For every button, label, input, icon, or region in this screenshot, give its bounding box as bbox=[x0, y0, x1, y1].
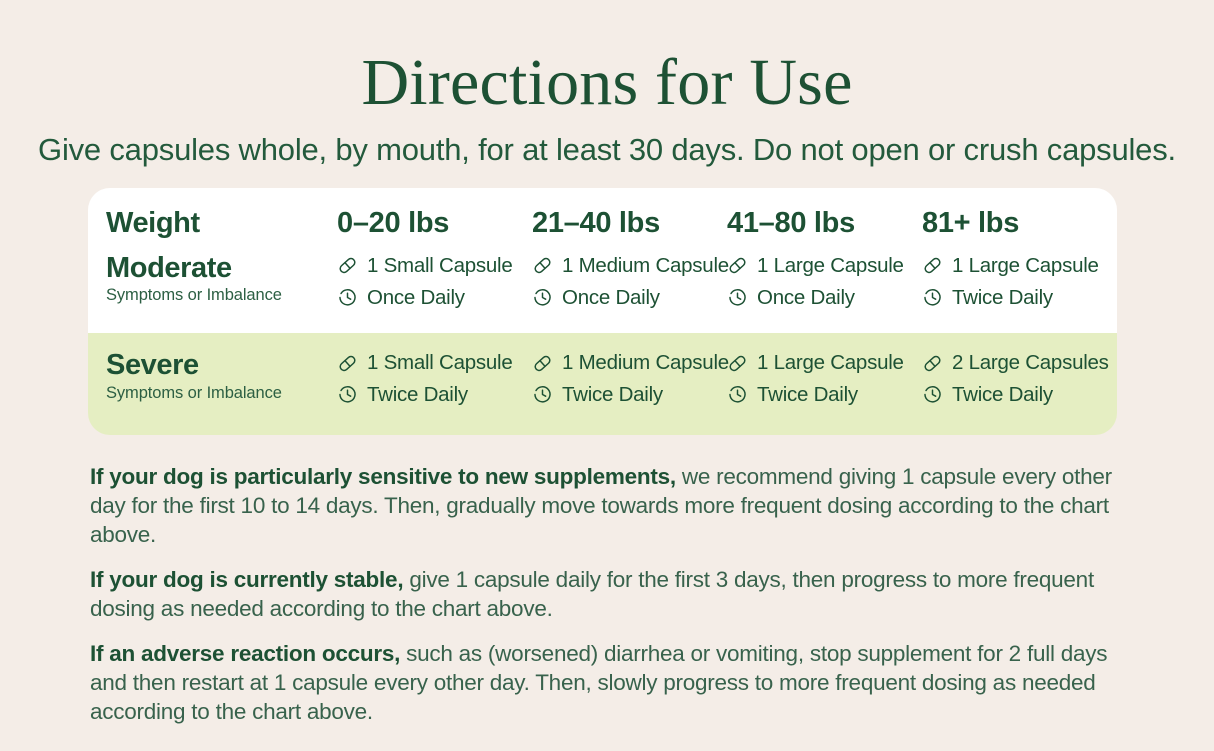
severity-subtitle: Symptoms or Imbalance bbox=[106, 286, 337, 305]
frequency-label: Once Daily bbox=[562, 284, 660, 312]
capsule-dose-label: 1 Large Capsule bbox=[952, 252, 1099, 280]
capsule-icon bbox=[337, 255, 358, 276]
frequency-label: Twice Daily bbox=[757, 381, 858, 409]
capsule-dose: 1 Small Capsule bbox=[337, 252, 532, 280]
page-subtitle: Give capsules whole, by mouth, for at le… bbox=[0, 131, 1214, 168]
capsule-dose-label: 1 Large Capsule bbox=[757, 252, 904, 280]
capsule-dose: 1 Large Capsule bbox=[922, 252, 1122, 280]
capsule-dose: 1 Large Capsule bbox=[727, 349, 922, 377]
usage-notes: If your dog is particularly sensitive to… bbox=[90, 462, 1125, 726]
frequency-label: Twice Daily bbox=[562, 381, 663, 409]
frequency-label: Twice Daily bbox=[367, 381, 468, 409]
clock-icon bbox=[337, 384, 358, 405]
capsule-dose: 1 Large Capsule bbox=[727, 252, 922, 280]
column-header-21-40: 21–40 lbs bbox=[532, 208, 727, 240]
directions-for-use-page: Directions for Use Give capsules whole, … bbox=[0, 0, 1214, 751]
note-stable: If your dog is currently stable, give 1 … bbox=[90, 565, 1125, 623]
note-lead: If your dog is currently stable, bbox=[90, 567, 403, 592]
frequency-dose: Twice Daily bbox=[922, 381, 1122, 409]
capsule-dose-label: 1 Small Capsule bbox=[367, 349, 513, 377]
capsule-icon bbox=[727, 255, 748, 276]
capsule-icon bbox=[727, 353, 748, 374]
clock-icon bbox=[922, 287, 943, 308]
column-header-0-20: 0–20 lbs bbox=[337, 208, 532, 240]
table-row-severe: Severe Symptoms or Imbalance 1 Small Cap… bbox=[88, 333, 1117, 434]
capsule-dose: 2 Large Capsules bbox=[922, 349, 1122, 377]
dose-cell-severe-21-40: 1 Medium Capsule Twice Daily bbox=[532, 349, 727, 408]
frequency-label: Once Daily bbox=[757, 284, 855, 312]
clock-icon bbox=[727, 384, 748, 405]
frequency-label: Twice Daily bbox=[952, 381, 1053, 409]
capsule-dose-label: 2 Large Capsules bbox=[952, 349, 1109, 377]
dosage-chart: Weight 0–20 lbs 21–40 lbs 41–80 lbs 81+ … bbox=[88, 188, 1117, 435]
page-title: Directions for Use bbox=[0, 0, 1214, 117]
capsule-dose-label: 1 Medium Capsule bbox=[562, 252, 729, 280]
capsule-icon bbox=[922, 255, 943, 276]
note-sensitive: If your dog is particularly sensitive to… bbox=[90, 462, 1125, 549]
frequency-dose: Twice Daily bbox=[337, 381, 532, 409]
capsule-dose-label: 1 Large Capsule bbox=[757, 349, 904, 377]
table-row-moderate: Moderate Symptoms or Imbalance 1 Small C… bbox=[88, 248, 1117, 333]
capsule-dose-label: 1 Medium Capsule bbox=[562, 349, 729, 377]
dose-cell-severe-81-plus: 2 Large Capsules Twice Daily bbox=[922, 349, 1122, 408]
dose-cell-severe-0-20: 1 Small Capsule Twice Daily bbox=[337, 349, 532, 408]
frequency-label: Twice Daily bbox=[952, 284, 1053, 312]
clock-icon bbox=[532, 384, 553, 405]
frequency-label: Once Daily bbox=[367, 284, 465, 312]
capsule-dose: 1 Small Capsule bbox=[337, 349, 532, 377]
frequency-dose: Once Daily bbox=[337, 284, 532, 312]
dose-cell-moderate-41-80: 1 Large Capsule Once Daily bbox=[727, 252, 922, 311]
table-header-row: Weight 0–20 lbs 21–40 lbs 41–80 lbs 81+ … bbox=[88, 188, 1117, 248]
frequency-dose: Twice Daily bbox=[532, 381, 727, 409]
clock-icon bbox=[922, 384, 943, 405]
capsule-dose: 1 Medium Capsule bbox=[532, 349, 727, 377]
capsule-icon bbox=[532, 255, 553, 276]
note-adverse-reaction: If an adverse reaction occurs, such as (… bbox=[90, 639, 1125, 726]
column-header-41-80: 41–80 lbs bbox=[727, 208, 922, 240]
capsule-icon bbox=[532, 353, 553, 374]
severity-cell-severe: Severe Symptoms or Imbalance bbox=[88, 349, 337, 403]
clock-icon bbox=[337, 287, 358, 308]
dose-cell-severe-41-80: 1 Large Capsule Twice Daily bbox=[727, 349, 922, 408]
capsule-icon bbox=[922, 353, 943, 374]
column-header-81-plus: 81+ lbs bbox=[922, 208, 1122, 240]
capsule-dose-label: 1 Small Capsule bbox=[367, 252, 513, 280]
note-lead: If your dog is particularly sensitive to… bbox=[90, 464, 676, 489]
clock-icon bbox=[532, 287, 553, 308]
capsule-icon bbox=[337, 353, 358, 374]
dosage-chart-top: Weight 0–20 lbs 21–40 lbs 41–80 lbs 81+ … bbox=[88, 188, 1117, 333]
note-lead: If an adverse reaction occurs, bbox=[90, 641, 400, 666]
capsule-dose: 1 Medium Capsule bbox=[532, 252, 727, 280]
clock-icon bbox=[727, 287, 748, 308]
frequency-dose: Twice Daily bbox=[922, 284, 1122, 312]
frequency-dose: Once Daily bbox=[727, 284, 922, 312]
dose-cell-moderate-81-plus: 1 Large Capsule Twice Daily bbox=[922, 252, 1122, 311]
weight-header-cell: Weight bbox=[88, 208, 337, 240]
frequency-dose: Once Daily bbox=[532, 284, 727, 312]
dose-cell-moderate-21-40: 1 Medium Capsule Once Daily bbox=[532, 252, 727, 311]
severity-cell-moderate: Moderate Symptoms or Imbalance bbox=[88, 252, 337, 306]
dose-cell-moderate-0-20: 1 Small Capsule Once Daily bbox=[337, 252, 532, 311]
severity-subtitle: Symptoms or Imbalance bbox=[106, 384, 337, 403]
frequency-dose: Twice Daily bbox=[727, 381, 922, 409]
